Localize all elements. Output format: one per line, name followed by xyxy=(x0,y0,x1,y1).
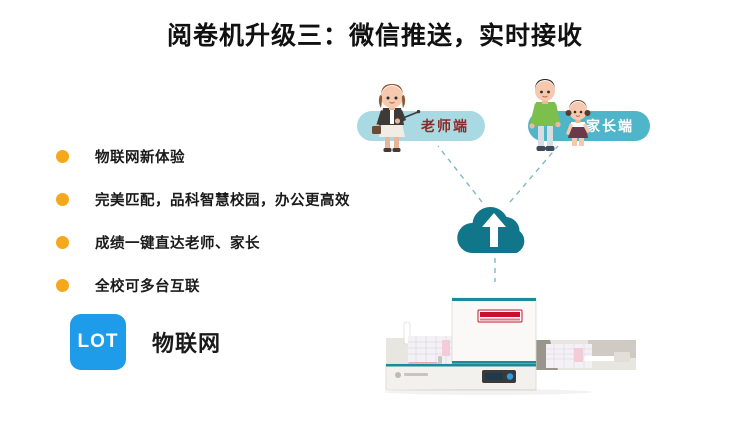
list-item: 完美匹配，品科智慧校园，办公更高效 xyxy=(56,181,376,217)
teacher-figure xyxy=(364,82,422,154)
connector-cloud-to-parent xyxy=(510,146,558,202)
bullet-dot-icon xyxy=(56,150,69,163)
list-item: 成绩一键直达老师、家长 xyxy=(56,224,376,260)
omr-scanner xyxy=(378,278,640,396)
iot-callout: LOT 物联网 xyxy=(70,314,221,370)
architecture-diagram: 老师端 家长端 xyxy=(330,60,730,410)
bullet-dot-icon xyxy=(56,193,69,206)
bullet-label: 物联网新体验 xyxy=(95,146,185,167)
iot-badge-icon: LOT xyxy=(70,314,126,370)
parent-figure xyxy=(526,78,564,154)
connector-cloud-to-teacher xyxy=(438,146,482,202)
feature-bullet-list: 物联网新体验 完美匹配，品科智慧校园，办公更高效 成绩一键直达老师、家长 全校可… xyxy=(56,138,376,310)
list-item: 全校可多台互联 xyxy=(56,267,376,303)
teacher-pill-label: 老师端 xyxy=(421,116,469,136)
child-figure xyxy=(562,100,594,154)
bullet-dot-icon xyxy=(56,236,69,249)
page-title: 阅卷机升级三：微信推送，实时接收 xyxy=(0,16,750,52)
bullet-label: 全校可多台互联 xyxy=(95,275,200,296)
iot-label: 物联网 xyxy=(152,326,221,358)
cloud-upload-icon xyxy=(452,197,538,257)
list-item: 物联网新体验 xyxy=(56,138,376,174)
bullet-label: 完美匹配，品科智慧校园，办公更高效 xyxy=(95,189,350,210)
bullet-dot-icon xyxy=(56,279,69,292)
bullet-label: 成绩一键直达老师、家长 xyxy=(95,232,260,253)
